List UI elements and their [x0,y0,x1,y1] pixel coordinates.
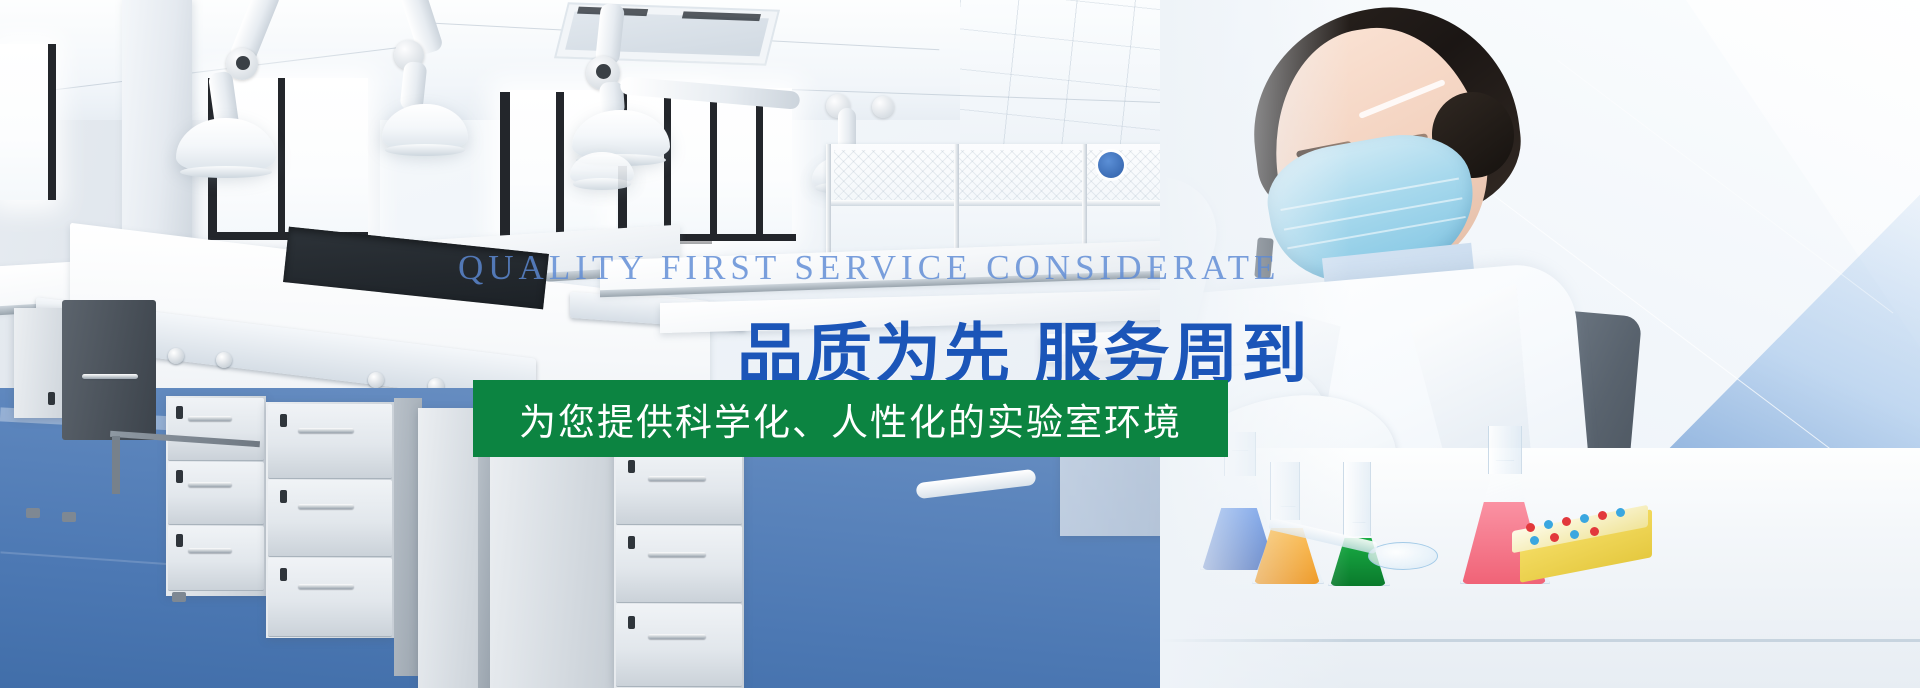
subtitle-text: 为您提供科学化、人性化的实验室环境 [519,392,1182,446]
banner-text-overlay: QUALITY FIRST SERVICE CONSIDERATE 品质为先 服… [0,0,1920,688]
subtitle-green-bar: 为您提供科学化、人性化的实验室环境 [473,380,1228,457]
headline-english: QUALITY FIRST SERVICE CONSIDERATE [458,248,1280,288]
hero-banner: QUALITY FIRST SERVICE CONSIDERATE 品质为先 服… [0,0,1920,688]
